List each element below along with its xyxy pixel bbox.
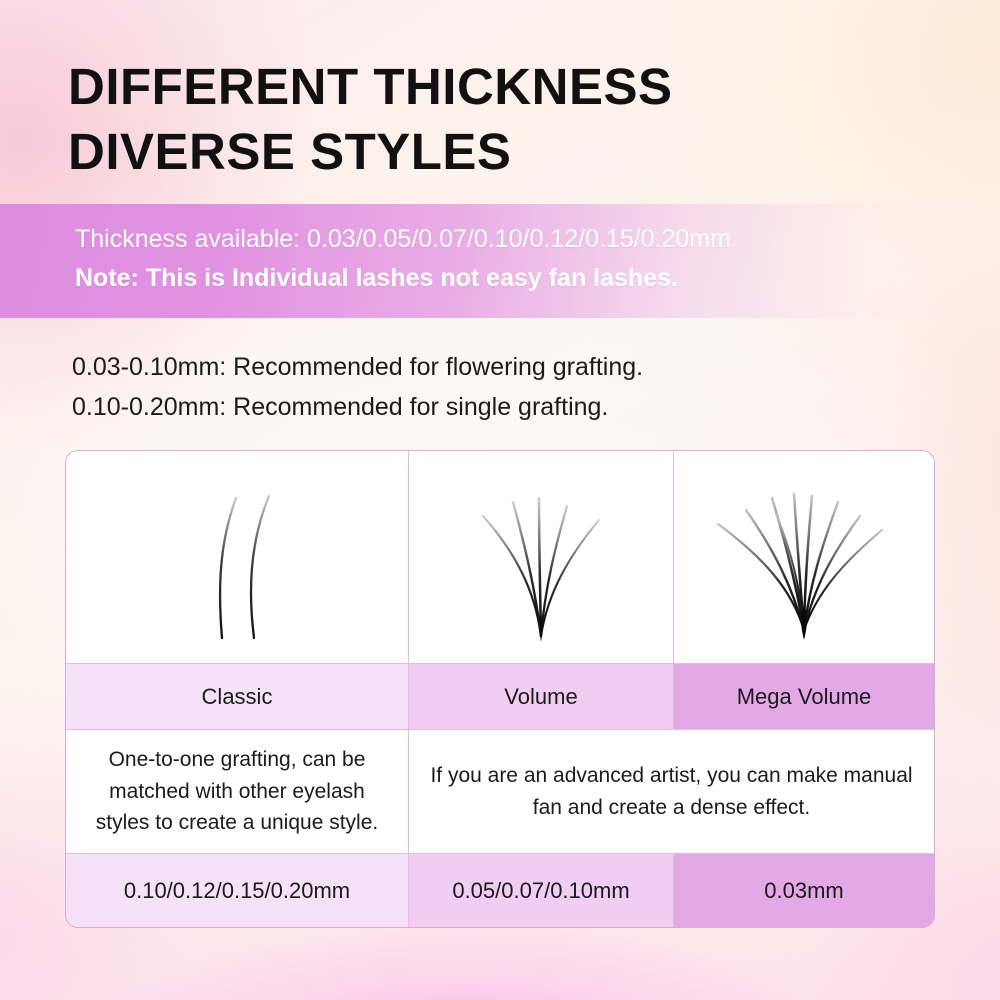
recommendation-flowering-grafting: 0.03-0.10mm: Recommended for flowering g… bbox=[72, 348, 643, 388]
mega-volume-illustration-cell bbox=[674, 451, 934, 663]
recommendation-block: 0.03-0.10mm: Recommended for flowering g… bbox=[72, 348, 643, 427]
mega-volume-label-cell: Mega Volume bbox=[674, 664, 934, 729]
mega-volume-fan-icon bbox=[704, 470, 904, 645]
title-line-1: DIFFERENT THICKNESS bbox=[68, 55, 928, 120]
volume-fan-icon bbox=[451, 470, 631, 645]
individual-lashes-note: Note: This is Individual lashes not easy… bbox=[75, 259, 731, 298]
table-row-descriptions: One-to-one grafting, can be matched with… bbox=[66, 730, 934, 853]
lash-comparison-table: Classic Volume Mega Volume One-to-one gr… bbox=[65, 450, 935, 928]
infographic-page: DIFFERENT THICKNESS DIVERSE STYLES Thick… bbox=[0, 0, 1000, 1000]
volume-label: Volume bbox=[504, 684, 577, 710]
recommendation-single-grafting: 0.10-0.20mm: Recommended for single graf… bbox=[72, 388, 643, 428]
classic-description-cell: One-to-one grafting, can be matched with… bbox=[66, 730, 409, 853]
volume-mega-description: If you are an advanced artist, you can m… bbox=[409, 760, 934, 823]
mega-volume-thickness: 0.03mm bbox=[764, 878, 843, 904]
thickness-available-text: Thickness available: 0.03/0.05/0.07/0.10… bbox=[75, 220, 731, 259]
page-title: DIFFERENT THICKNESS DIVERSE STYLES bbox=[68, 55, 928, 185]
classic-label: Classic bbox=[202, 684, 273, 710]
volume-thickness: 0.05/0.07/0.10mm bbox=[452, 878, 629, 904]
mega-volume-thickness-cell: 0.03mm bbox=[674, 854, 934, 927]
classic-illustration-cell bbox=[66, 451, 409, 663]
classic-label-cell: Classic bbox=[66, 664, 409, 729]
title-line-2: DIVERSE STYLES bbox=[68, 120, 928, 185]
volume-mega-description-cell: If you are an advanced artist, you can m… bbox=[409, 730, 934, 853]
mega-volume-label: Mega Volume bbox=[737, 684, 872, 710]
classic-thickness-cell: 0.10/0.12/0.15/0.20mm bbox=[66, 854, 409, 927]
volume-label-cell: Volume bbox=[409, 664, 674, 729]
thickness-banner-content: Thickness available: 0.03/0.05/0.07/0.10… bbox=[75, 220, 731, 298]
classic-lash-icon bbox=[162, 470, 312, 645]
thickness-banner: Thickness available: 0.03/0.05/0.07/0.10… bbox=[0, 204, 1000, 318]
volume-illustration-cell bbox=[409, 451, 674, 663]
classic-description: One-to-one grafting, can be matched with… bbox=[66, 744, 408, 839]
volume-thickness-cell: 0.05/0.07/0.10mm bbox=[409, 854, 674, 927]
table-row-illustrations bbox=[66, 451, 934, 663]
classic-thickness: 0.10/0.12/0.15/0.20mm bbox=[124, 878, 350, 904]
table-row-thickness: 0.10/0.12/0.15/0.20mm 0.05/0.07/0.10mm 0… bbox=[66, 853, 934, 927]
table-row-labels: Classic Volume Mega Volume bbox=[66, 663, 934, 730]
